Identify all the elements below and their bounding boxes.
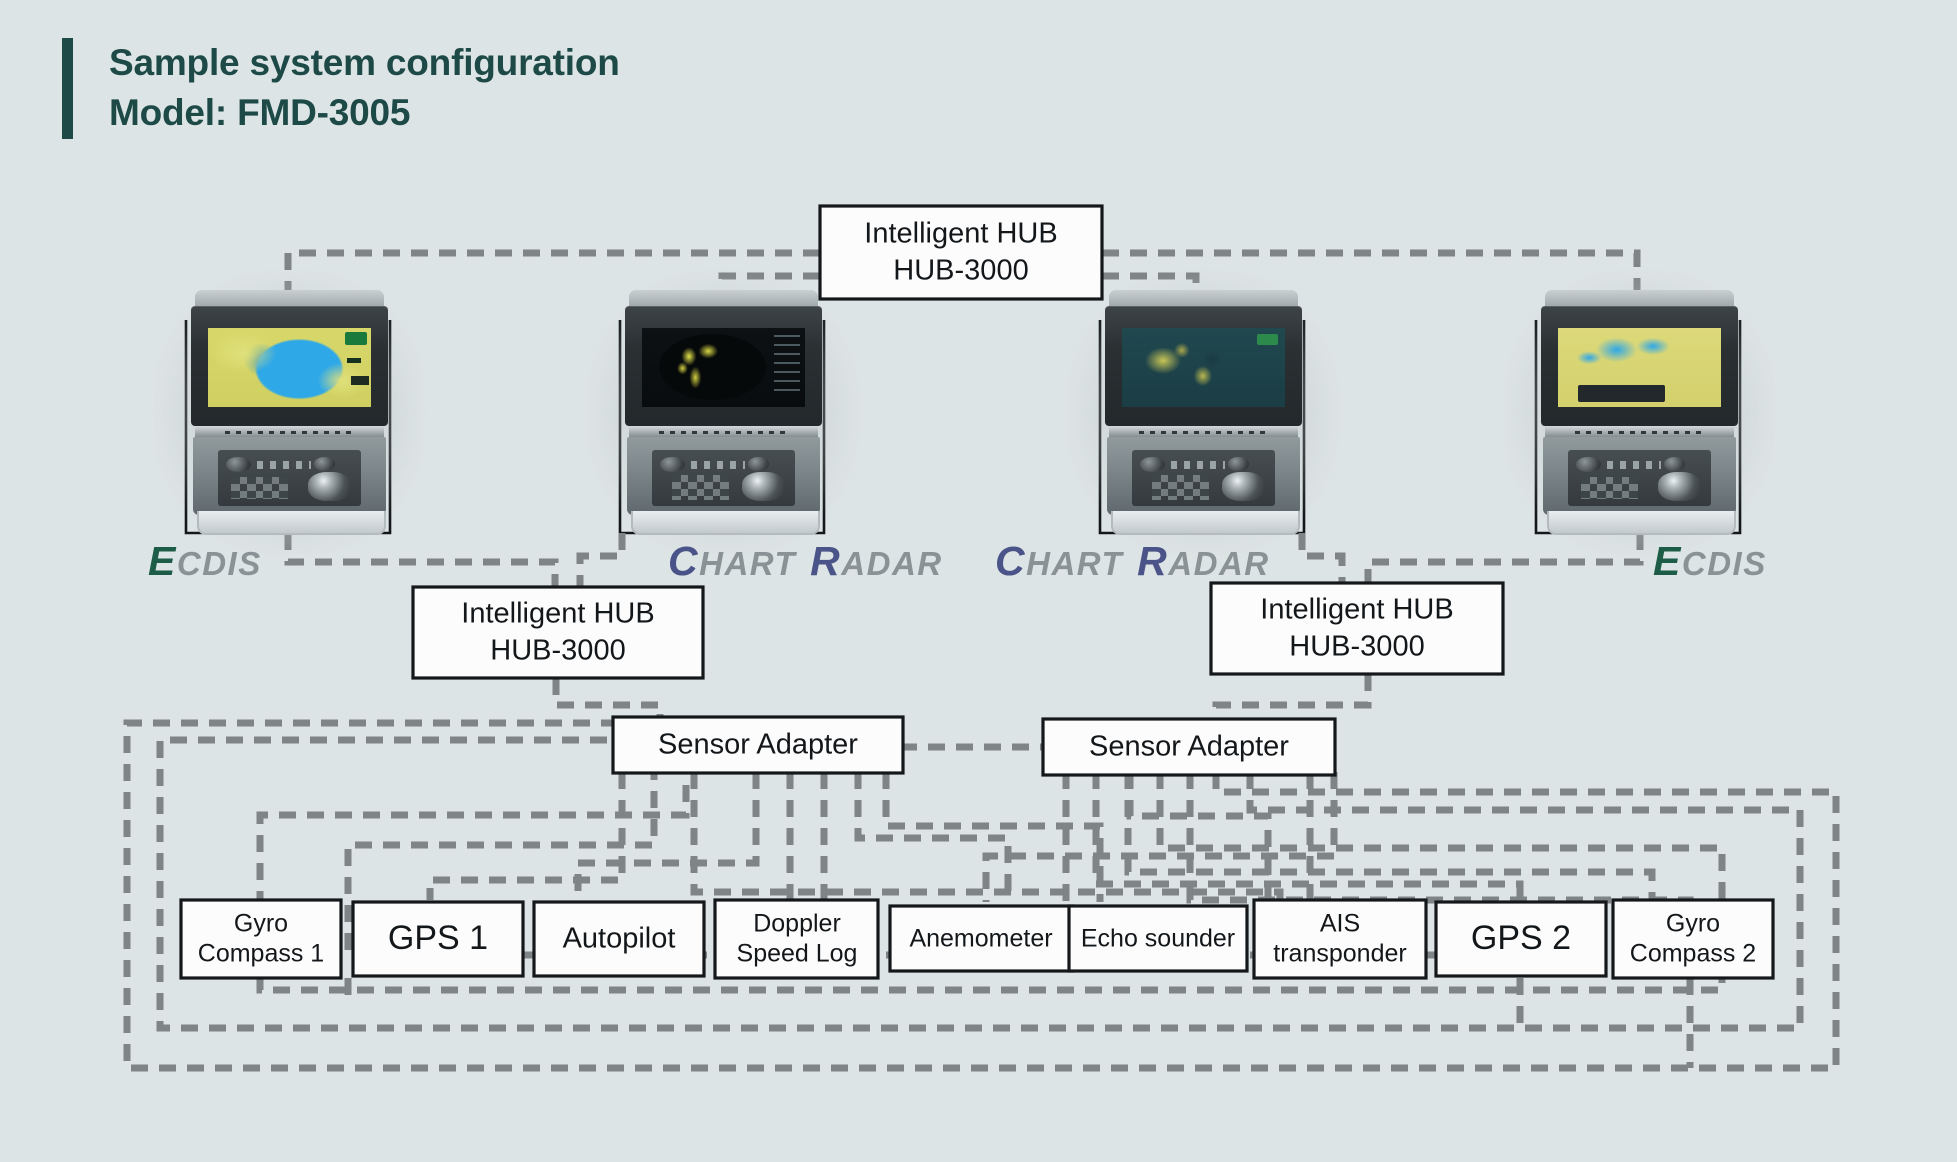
console-bezel (625, 306, 823, 426)
display-screen-ecdis[interactable] (208, 328, 370, 407)
trackball[interactable] (1222, 472, 1265, 501)
wire-adapter-left-to-gyro1 (430, 772, 622, 900)
logo-chartradar-2: CHARTRADAR (995, 538, 1270, 585)
control-panel[interactable] (218, 450, 361, 506)
hub-top-line2: HUB-3000 (893, 255, 1028, 287)
hub-left-line1: Intelligent HUB (461, 598, 654, 630)
console-control-body (627, 437, 821, 515)
rotary-knob-right[interactable] (1664, 457, 1685, 471)
rotary-knob-left[interactable] (1576, 457, 1600, 472)
button-row[interactable] (1171, 461, 1225, 469)
logo-chart-rest: HART (1026, 545, 1123, 582)
box-sensor-adapter-left[interactable]: Sensor Adapter (613, 717, 903, 773)
display-screen-radar[interactable] (642, 328, 804, 407)
box-sensor-gps-2[interactable]: GPS 2 (1436, 902, 1606, 976)
logo-radar-rest: ADAR (1168, 545, 1269, 582)
console-base (1111, 511, 1300, 535)
box-sensor-gyro-compass-1[interactable]: Gyro Compass 1 (181, 900, 341, 978)
console-control-body (193, 437, 387, 515)
hub-top-line1: Intelligent HUB (864, 218, 1057, 250)
console-base (197, 511, 386, 535)
chart-radar-display-graphic (1122, 328, 1284, 407)
button-row[interactable] (691, 461, 745, 469)
button-row[interactable] (1607, 461, 1661, 469)
box-sensor-anemometer[interactable]: Anemometer (890, 906, 1073, 971)
console-ecdis-1[interactable] (182, 290, 397, 535)
control-panel[interactable] (1568, 450, 1711, 506)
console-chartradar-1[interactable] (616, 290, 831, 535)
keypad[interactable] (672, 475, 729, 500)
logo-ecdis-cap: E (1653, 538, 1682, 584)
wire-bus-outer-2 (160, 740, 1800, 1028)
console-control-body (1107, 437, 1301, 515)
logo-chart-rest: HART (699, 545, 796, 582)
display-screen-chartradar[interactable] (1122, 328, 1284, 407)
doppler-line1: Doppler (753, 910, 841, 938)
display-screen-ecdis2[interactable] (1558, 328, 1720, 407)
console-ecdis-2[interactable] (1532, 290, 1747, 535)
autopilot-label: Autopilot (563, 923, 676, 955)
gyro2-line2: Compass 2 (1630, 940, 1756, 968)
trackball[interactable] (742, 472, 785, 501)
console-base (631, 511, 820, 535)
hub-right-line2: HUB-3000 (1289, 631, 1424, 663)
trackball[interactable] (308, 472, 351, 501)
logo-radar-rest: ADAR (841, 545, 942, 582)
diagram-page: Sample system configuration Model: FMD-3… (0, 0, 1957, 1162)
logo-radar-cap: R (1137, 538, 1168, 584)
rotary-knob-right[interactable] (1228, 457, 1249, 471)
box-sensor-gyro-compass-2[interactable]: Gyro Compass 2 (1613, 900, 1773, 978)
logo-chartradar-1: CHARTRADAR (668, 538, 943, 585)
logo-ecdis-cap: E (148, 538, 177, 584)
console-bezel (1105, 306, 1303, 426)
console-control-body (1543, 437, 1737, 515)
gps1-label: GPS 1 (388, 919, 488, 957)
gyro2-line1: Gyro (1666, 910, 1720, 938)
logo-ecdis-2: ECDIS (1653, 538, 1767, 585)
box-sensor-doppler-speed-log[interactable]: Doppler Speed Log (715, 900, 878, 978)
rotary-knob-right[interactable] (314, 457, 335, 471)
ais-line1: AIS (1320, 910, 1360, 938)
logo-ecdis-rest: CDIS (1682, 545, 1767, 582)
adapter-left-label: Sensor Adapter (658, 729, 858, 761)
box-hub-right[interactable]: Intelligent HUB HUB-3000 (1211, 583, 1503, 674)
chart-display-graphic (208, 328, 370, 407)
trackball[interactable] (1658, 472, 1701, 501)
keypad[interactable] (1581, 477, 1638, 500)
console-bezel (191, 306, 389, 426)
box-sensor-gps-1[interactable]: GPS 1 (353, 902, 523, 976)
keypad[interactable] (1152, 475, 1209, 500)
doppler-line2: Speed Log (737, 940, 858, 968)
gps2-label: GPS 2 (1471, 919, 1571, 957)
adapter-right-label: Sensor Adapter (1089, 731, 1289, 763)
ais-line2: transponder (1273, 940, 1406, 968)
console-base (1547, 511, 1736, 535)
box-hub-left[interactable]: Intelligent HUB HUB-3000 (413, 587, 703, 678)
rotary-knob-left[interactable] (660, 457, 684, 472)
gyro1-line2: Compass 1 (198, 940, 324, 968)
box-sensor-autopilot[interactable]: Autopilot (534, 902, 704, 976)
logo-radar-cap: R (810, 538, 841, 584)
logo-chart-cap: C (668, 538, 699, 584)
control-panel[interactable] (1132, 450, 1275, 506)
chart-display-graphic (1558, 328, 1720, 407)
rotary-knob-right[interactable] (748, 457, 769, 471)
button-row[interactable] (257, 461, 311, 469)
logo-ecdis-rest: CDIS (177, 545, 262, 582)
hub-right-line1: Intelligent HUB (1260, 594, 1453, 626)
echo-sounder-label: Echo sounder (1081, 925, 1235, 953)
rotary-knob-left[interactable] (226, 457, 250, 472)
anemometer-label: Anemometer (909, 925, 1052, 953)
logo-chart-cap: C (995, 538, 1026, 584)
gyro1-line1: Gyro (234, 910, 288, 938)
control-panel[interactable] (652, 450, 795, 506)
box-hub-top[interactable]: Intelligent HUB HUB-3000 (820, 206, 1102, 299)
console-chartradar-2[interactable] (1096, 290, 1311, 535)
logo-ecdis-1: ECDIS (148, 538, 262, 585)
box-sensor-ais-transponder[interactable]: AIS transponder (1254, 900, 1426, 978)
keypad[interactable] (231, 477, 288, 500)
hub-left-line2: HUB-3000 (490, 635, 625, 667)
console-bezel (1541, 306, 1739, 426)
box-sensor-echo-sounder[interactable]: Echo sounder (1069, 906, 1247, 971)
box-sensor-adapter-right[interactable]: Sensor Adapter (1043, 719, 1335, 775)
radar-display-graphic (642, 328, 804, 407)
rotary-knob-left[interactable] (1140, 457, 1164, 472)
